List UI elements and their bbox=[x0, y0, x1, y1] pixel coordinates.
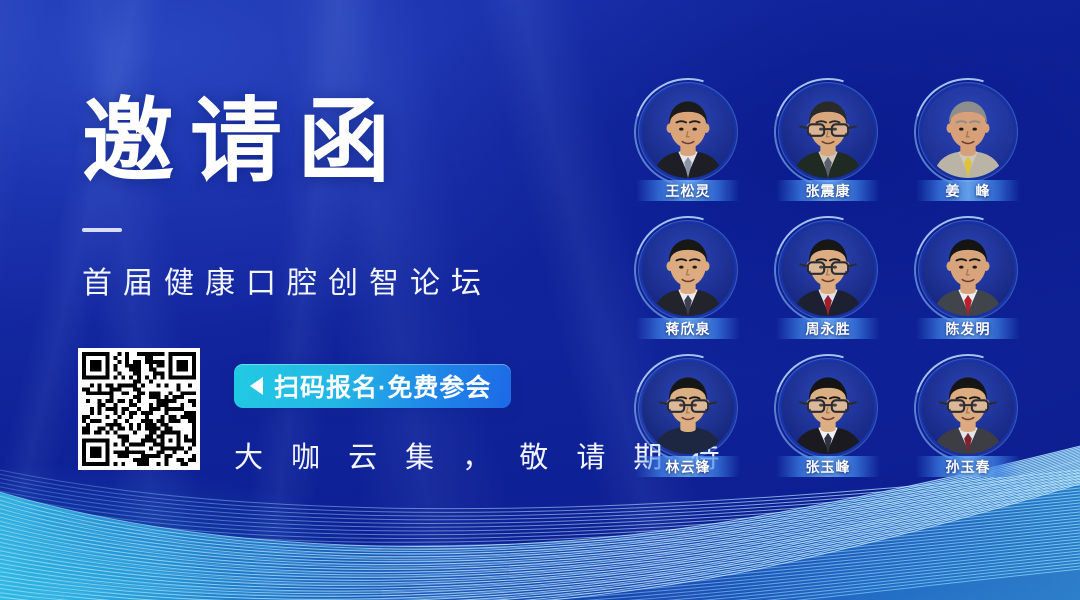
speaker-name: 王松灵 bbox=[666, 181, 711, 201]
speaker-name: 林云锋 bbox=[666, 457, 711, 477]
speaker-name: 姜 峰 bbox=[946, 181, 991, 201]
speaker-avatar-frame bbox=[638, 82, 738, 182]
speaker-name-bar: 姜 峰 bbox=[916, 180, 1020, 201]
speaker-name-bar: 林云锋 bbox=[636, 456, 740, 477]
page-title: 邀请函 bbox=[82, 96, 602, 188]
avatar bbox=[922, 224, 1014, 316]
speaker-avatar-frame bbox=[638, 220, 738, 320]
speaker-grid: 王松灵张震康姜 峰蒋欣泉周永胜陈发明林云锋张玉峰孙玉春 bbox=[618, 82, 1038, 486]
avatar bbox=[642, 362, 734, 454]
avatar bbox=[642, 224, 734, 316]
invitation-poster: 邀请函 首届健康口腔创智论坛 扫码报名·免费参会 大 咖 云 集 ， 敬 请 期… bbox=[0, 0, 1080, 600]
speaker-avatar-frame bbox=[778, 82, 878, 182]
avatar bbox=[642, 86, 734, 178]
speaker-card[interactable]: 陈发明 bbox=[898, 220, 1038, 348]
speaker-card[interactable]: 林云锋 bbox=[618, 358, 758, 486]
subtitle: 首届健康口腔创智论坛 bbox=[82, 258, 602, 302]
speaker-name: 孙玉春 bbox=[946, 457, 991, 477]
speaker-card[interactable]: 姜 峰 bbox=[898, 82, 1038, 210]
qr-code[interactable] bbox=[78, 348, 200, 470]
speaker-name: 蒋欣泉 bbox=[666, 319, 711, 339]
speaker-name-bar: 蒋欣泉 bbox=[636, 318, 740, 339]
scan-register-button[interactable]: 扫码报名·免费参会 bbox=[234, 364, 511, 408]
speaker-card[interactable]: 王松灵 bbox=[618, 82, 758, 210]
qr-code-icon bbox=[82, 352, 196, 466]
title-divider bbox=[82, 228, 122, 232]
speaker-card[interactable]: 张玉峰 bbox=[758, 358, 898, 486]
speaker-avatar-frame bbox=[638, 358, 738, 458]
speaker-name: 陈发明 bbox=[946, 319, 991, 339]
speaker-name: 张震康 bbox=[806, 181, 851, 201]
speaker-name-bar: 周永胜 bbox=[776, 318, 880, 339]
speaker-card[interactable]: 张震康 bbox=[758, 82, 898, 210]
avatar bbox=[922, 362, 1014, 454]
avatar bbox=[782, 362, 874, 454]
speaker-card[interactable]: 周永胜 bbox=[758, 220, 898, 348]
speaker-name: 周永胜 bbox=[806, 319, 851, 339]
speaker-avatar-frame bbox=[918, 82, 1018, 182]
speaker-avatar-frame bbox=[778, 220, 878, 320]
avatar bbox=[782, 86, 874, 178]
speaker-name-bar: 张震康 bbox=[776, 180, 880, 201]
speaker-card[interactable]: 孙玉春 bbox=[898, 358, 1038, 486]
avatar bbox=[782, 224, 874, 316]
avatar bbox=[922, 86, 1014, 178]
speaker-name-bar: 孙玉春 bbox=[916, 456, 1020, 477]
headline-block: 邀请函 首届健康口腔创智论坛 bbox=[82, 96, 602, 302]
speaker-name: 张玉峰 bbox=[806, 457, 851, 477]
speaker-name-bar: 王松灵 bbox=[636, 180, 740, 201]
speaker-card[interactable]: 蒋欣泉 bbox=[618, 220, 758, 348]
left-triangle-icon bbox=[250, 377, 263, 395]
speaker-avatar-frame bbox=[918, 358, 1018, 458]
speaker-avatar-frame bbox=[918, 220, 1018, 320]
speaker-name-bar: 张玉峰 bbox=[776, 456, 880, 477]
speaker-name-bar: 陈发明 bbox=[916, 318, 1020, 339]
scan-register-label: 扫码报名·免费参会 bbox=[274, 368, 491, 404]
speaker-avatar-frame bbox=[778, 358, 878, 458]
